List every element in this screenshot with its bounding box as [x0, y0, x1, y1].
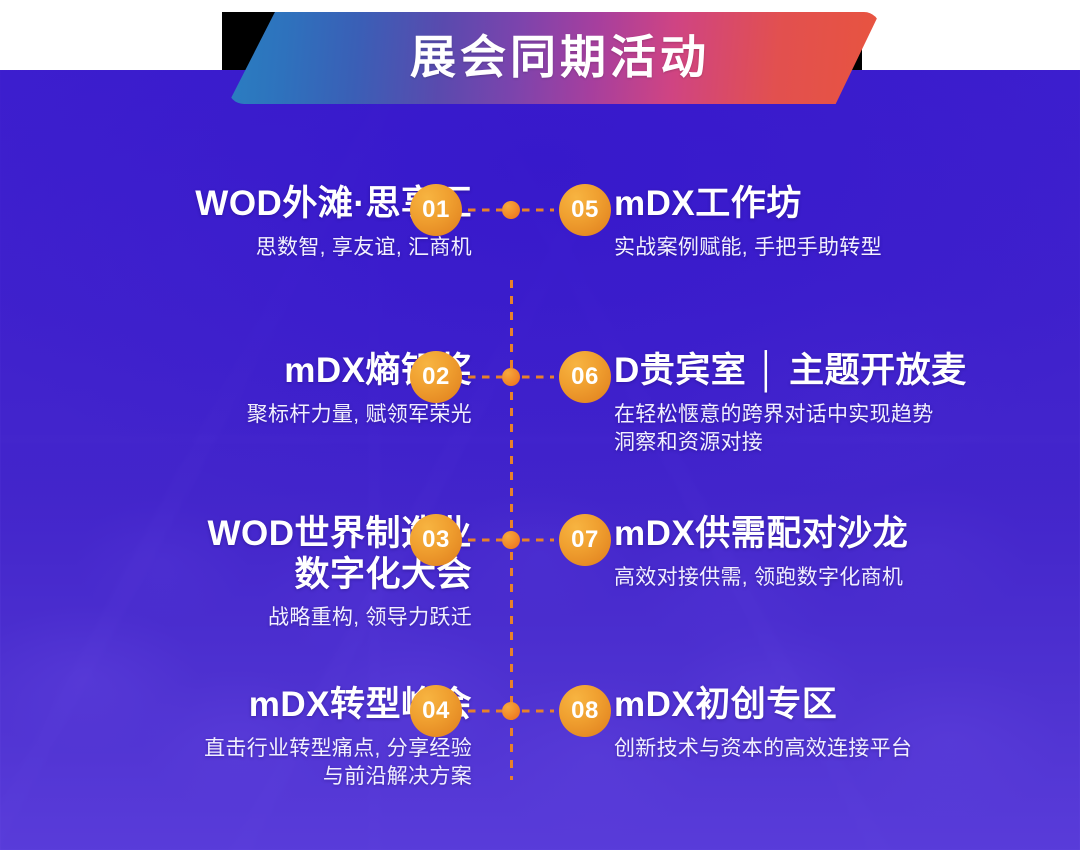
activity-subtitle: 高效对接供需, 领跑数字化商机 — [614, 564, 1080, 592]
activity-subtitle: 直击行业转型痛点, 分享经验 与前沿解决方案 — [0, 735, 472, 791]
connector-left-4 — [468, 710, 502, 713]
activity-number-badge-06[interactable]: 06 — [559, 351, 611, 403]
connector-left-1 — [468, 209, 502, 212]
connector-right-4 — [522, 710, 554, 713]
timeline-node-2 — [502, 368, 520, 386]
timeline-node-1 — [502, 201, 520, 219]
activity-item-03[interactable]: WOD世界制造业 数字化大会 战略重构, 领导力跃迁 — [0, 514, 472, 632]
activity-item-02[interactable]: mDX熵钥奖 聚标杆力量, 赋领军荣光 — [0, 351, 472, 429]
connector-right-3 — [522, 539, 554, 542]
connector-left-2 — [468, 376, 502, 379]
activity-number-badge-05[interactable]: 05 — [559, 184, 611, 236]
activity-number-badge-07[interactable]: 07 — [559, 514, 611, 566]
activity-title: D贵宾室 │ 主题开放麦 — [614, 351, 1080, 392]
activity-title: mDX供需配对沙龙 — [614, 514, 1080, 555]
activity-number-badge-03[interactable]: 03 — [410, 514, 462, 566]
activity-item-07[interactable]: mDX供需配对沙龙 高效对接供需, 领跑数字化商机 — [614, 514, 1080, 592]
activity-title: mDX熵钥奖 — [0, 351, 472, 392]
activity-title: mDX工作坊 — [614, 184, 1080, 225]
activity-item-06[interactable]: D贵宾室 │ 主题开放麦 在轻松惬意的跨界对话中实现趋势 洞察和资源对接 — [614, 351, 1080, 457]
activity-subtitle: 战略重构, 领导力跃迁 — [0, 604, 472, 632]
activity-subtitle: 思数智, 享友谊, 汇商机 — [0, 234, 472, 262]
activity-number-badge-04[interactable]: 04 — [410, 685, 462, 737]
connector-left-3 — [468, 539, 502, 542]
activity-subtitle: 在轻松惬意的跨界对话中实现趋势 洞察和资源对接 — [614, 401, 1080, 457]
activity-title: mDX转型峰会 — [0, 685, 472, 726]
activity-title: WOD外滩·思享汇 — [0, 184, 472, 225]
activity-item-08[interactable]: mDX初创专区 创新技术与资本的高效连接平台 — [614, 685, 1080, 763]
connector-right-1 — [522, 209, 554, 212]
activity-item-01[interactable]: WOD外滩·思享汇 思数智, 享友谊, 汇商机 — [0, 184, 472, 262]
poster-canvas: 展会同期活动 WOD外滩·思享汇 思数智, 享友谊, 汇商机 01 05 mDX… — [0, 0, 1080, 850]
activity-subtitle: 聚标杆力量, 赋领军荣光 — [0, 401, 472, 429]
timeline-node-3 — [502, 531, 520, 549]
activity-title: WOD世界制造业 数字化大会 — [0, 514, 472, 595]
timeline-node-4 — [502, 702, 520, 720]
activity-subtitle: 实战案例赋能, 手把手助转型 — [614, 234, 1080, 262]
activity-number-badge-08[interactable]: 08 — [559, 685, 611, 737]
activity-title: mDX初创专区 — [614, 685, 1080, 726]
activity-item-05[interactable]: mDX工作坊 实战案例赋能, 手把手助转型 — [614, 184, 1080, 262]
activity-item-04[interactable]: mDX转型峰会 直击行业转型痛点, 分享经验 与前沿解决方案 — [0, 685, 472, 791]
activity-number-badge-01[interactable]: 01 — [410, 184, 462, 236]
activity-subtitle: 创新技术与资本的高效连接平台 — [614, 735, 1080, 763]
activity-number-badge-02[interactable]: 02 — [410, 351, 462, 403]
connector-right-2 — [522, 376, 554, 379]
